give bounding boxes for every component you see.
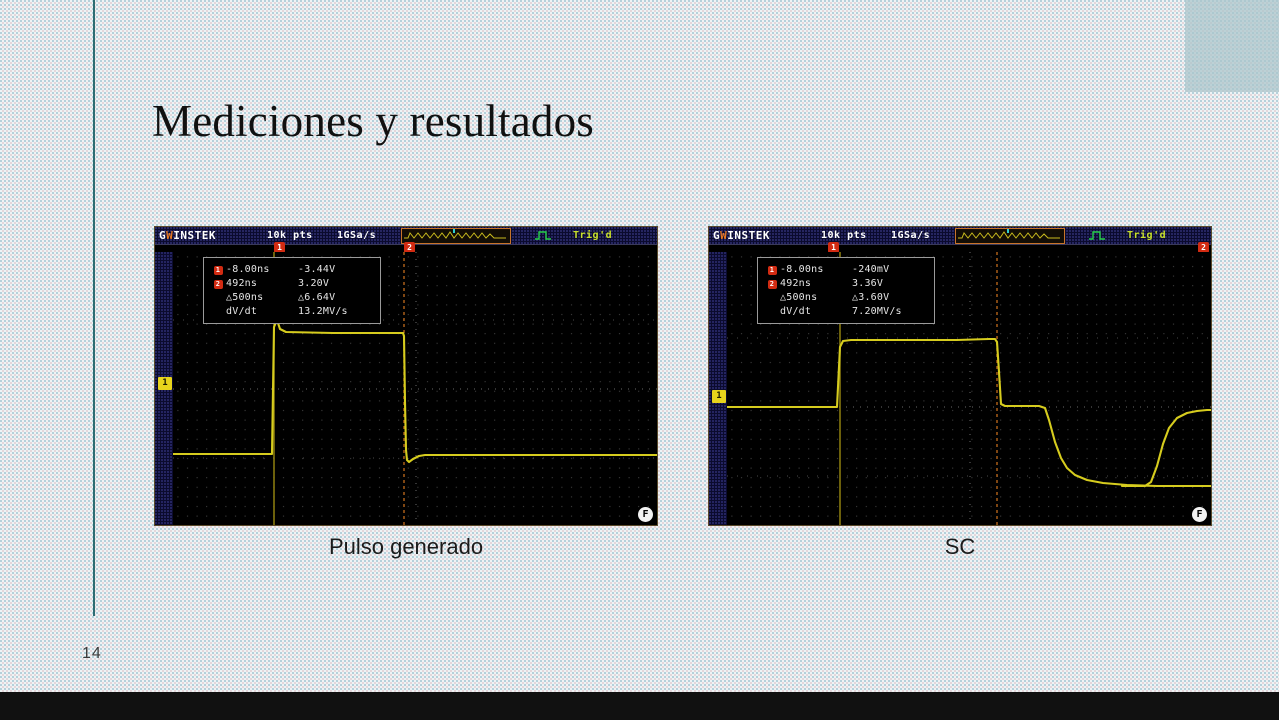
scope-left-gutter-right: 1 — [709, 252, 727, 526]
readout-time: -8.00ns — [780, 264, 852, 275]
readout-slew-label: dV/dt — [780, 306, 852, 317]
oscilloscope-screen-right: GWINSTEK 10k pts 1GSa/s Trig'd 1 2 1 — [708, 226, 1212, 526]
channel-1-badge[interactable]: 1 — [712, 390, 726, 403]
channel-1-badge[interactable]: 1 — [158, 377, 172, 390]
trigger-waveform-icon — [1089, 230, 1106, 241]
readout-delta-value: △6.64V — [298, 292, 374, 303]
figure-caption-left: Pulso generado — [154, 534, 658, 560]
scope-corner-badge: F — [1192, 507, 1207, 522]
figure-pulso-generado: GWINSTEK 10k pts 1GSa/s Trig'd 1 2 1 — [154, 226, 658, 526]
sample-rate-label: 1GSa/s — [891, 230, 930, 241]
readout-value: 3.36V — [852, 278, 928, 289]
readout-row: dV/dt 13.2MV/s — [210, 304, 374, 318]
readout-slew-value: 7.20MV/s — [852, 306, 928, 317]
page-number: 14 — [82, 645, 102, 663]
readout-row: △500ns △6.64V — [210, 290, 374, 304]
corner-accent-block — [1185, 0, 1279, 92]
readout-row: △500ns △3.60V — [764, 290, 928, 304]
slide-canvas: Mediciones y resultados GWINSTEK 10k pts… — [0, 0, 1279, 720]
readout-value: -240mV — [852, 264, 928, 275]
trigger-status-label: Trig'd — [573, 230, 612, 241]
waveform-plot-right: 1 -8.00ns -240mV 2 492ns 3.36V △500ns △3… — [727, 252, 1212, 526]
gwinstek-logo: GWINSTEK — [159, 229, 216, 242]
figure-sc: GWINSTEK 10k pts 1GSa/s Trig'd 1 2 1 — [708, 226, 1212, 526]
readout-time: -8.00ns — [226, 264, 298, 275]
figure-caption-right: SC — [708, 534, 1212, 560]
scope-corner-badge: F — [638, 507, 653, 522]
cursor-marker-icon: 1 — [210, 264, 226, 275]
readout-time: 492ns — [780, 278, 852, 289]
left-accent-rule — [93, 0, 95, 616]
trigger-waveform-icon — [535, 230, 552, 241]
readout-row: 1 -8.00ns -240mV — [764, 262, 928, 276]
gwinstek-logo: GWINSTEK — [713, 229, 770, 242]
readout-slew-value: 13.2MV/s — [298, 306, 374, 317]
scope-left-gutter-left: 1 — [155, 252, 173, 526]
measurement-readout-left: 1 -8.00ns -3.44V 2 492ns 3.20V △500ns △6… — [203, 257, 381, 324]
cursor-marker-icon: 1 — [764, 264, 780, 275]
memory-depth-label: 10k pts — [821, 230, 867, 241]
waveform-plot-left: 1 -8.00ns -3.44V 2 492ns 3.20V △500ns △6… — [173, 252, 658, 526]
oscilloscope-screen-left: GWINSTEK 10k pts 1GSa/s Trig'd 1 2 1 — [154, 226, 658, 526]
readout-delta-value: △3.60V — [852, 292, 928, 303]
readout-row: dV/dt 7.20MV/s — [764, 304, 928, 318]
readout-time: 492ns — [226, 278, 298, 289]
trigger-status-label: Trig'd — [1127, 230, 1166, 241]
page-title: Mediciones y resultados — [152, 92, 594, 150]
cursor-marker-icon: 2 — [210, 278, 226, 289]
scope-status-bar-right: GWINSTEK 10k pts 1GSa/s Trig'd — [709, 227, 1212, 244]
readout-row: 2 492ns 3.36V — [764, 276, 928, 290]
sample-rate-label: 1GSa/s — [337, 230, 376, 241]
bottom-band — [0, 692, 1279, 720]
readout-row: 1 -8.00ns -3.44V — [210, 262, 374, 276]
cursor-marker-icon: 2 — [764, 278, 780, 289]
readout-delta-time: △500ns — [226, 292, 298, 303]
readout-delta-time: △500ns — [780, 292, 852, 303]
zoom-window-preview — [401, 228, 511, 244]
readout-slew-label: dV/dt — [226, 306, 298, 317]
readout-value: -3.44V — [298, 264, 374, 275]
readout-value: 3.20V — [298, 278, 374, 289]
zoom-window-preview — [955, 228, 1065, 244]
measurement-readout-right: 1 -8.00ns -240mV 2 492ns 3.36V △500ns △3… — [757, 257, 935, 324]
memory-depth-label: 10k pts — [267, 230, 313, 241]
readout-row: 2 492ns 3.20V — [210, 276, 374, 290]
